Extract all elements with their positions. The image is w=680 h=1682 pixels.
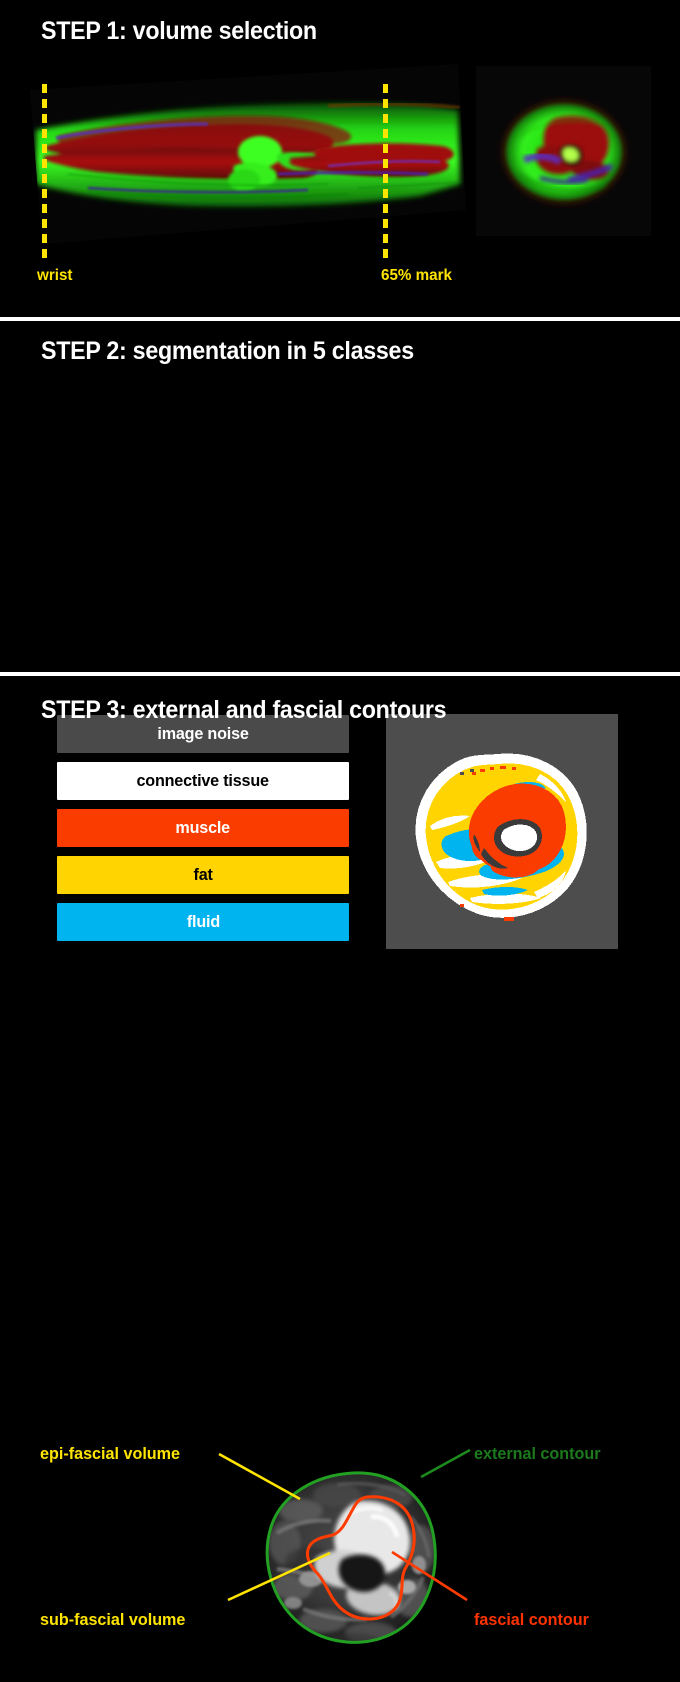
- grayscale-axial-slice-with-contours: [241, 1457, 469, 1653]
- step-2-title: STEP 2: segmentation in 5 classes: [41, 337, 414, 366]
- sagittal-forearm-mri: [28, 62, 468, 247]
- step-1-title: STEP 1: volume selection: [41, 17, 317, 46]
- axial-forearm-mri: [476, 66, 651, 236]
- wrist-marker-label: wrist: [37, 267, 72, 285]
- step-1-panel: wrist 65% mark: [0, 0, 680, 318]
- epi-fascial-volume-label: epi-fascial volume: [40, 1444, 180, 1464]
- sub-fascial-volume-label: sub-fascial volume: [40, 1610, 185, 1630]
- fascial-contour-label: fascial contour: [474, 1610, 589, 1630]
- wrist-marker-line: [42, 84, 47, 258]
- external-contour-label: external contour: [474, 1444, 601, 1464]
- sixty-five-percent-marker-line: [383, 84, 388, 258]
- sixty-five-percent-marker-label: 65% mark: [381, 267, 452, 285]
- step-3-panel: epi-fascial volume sub-fascial volume ex…: [0, 676, 680, 1006]
- figure-root: wrist 65% mark image noise connective ti…: [0, 0, 680, 1006]
- step-2-panel: image noise connective tissue muscle fat…: [0, 321, 680, 673]
- step-3-title: STEP 3: external and fascial contours: [41, 696, 446, 725]
